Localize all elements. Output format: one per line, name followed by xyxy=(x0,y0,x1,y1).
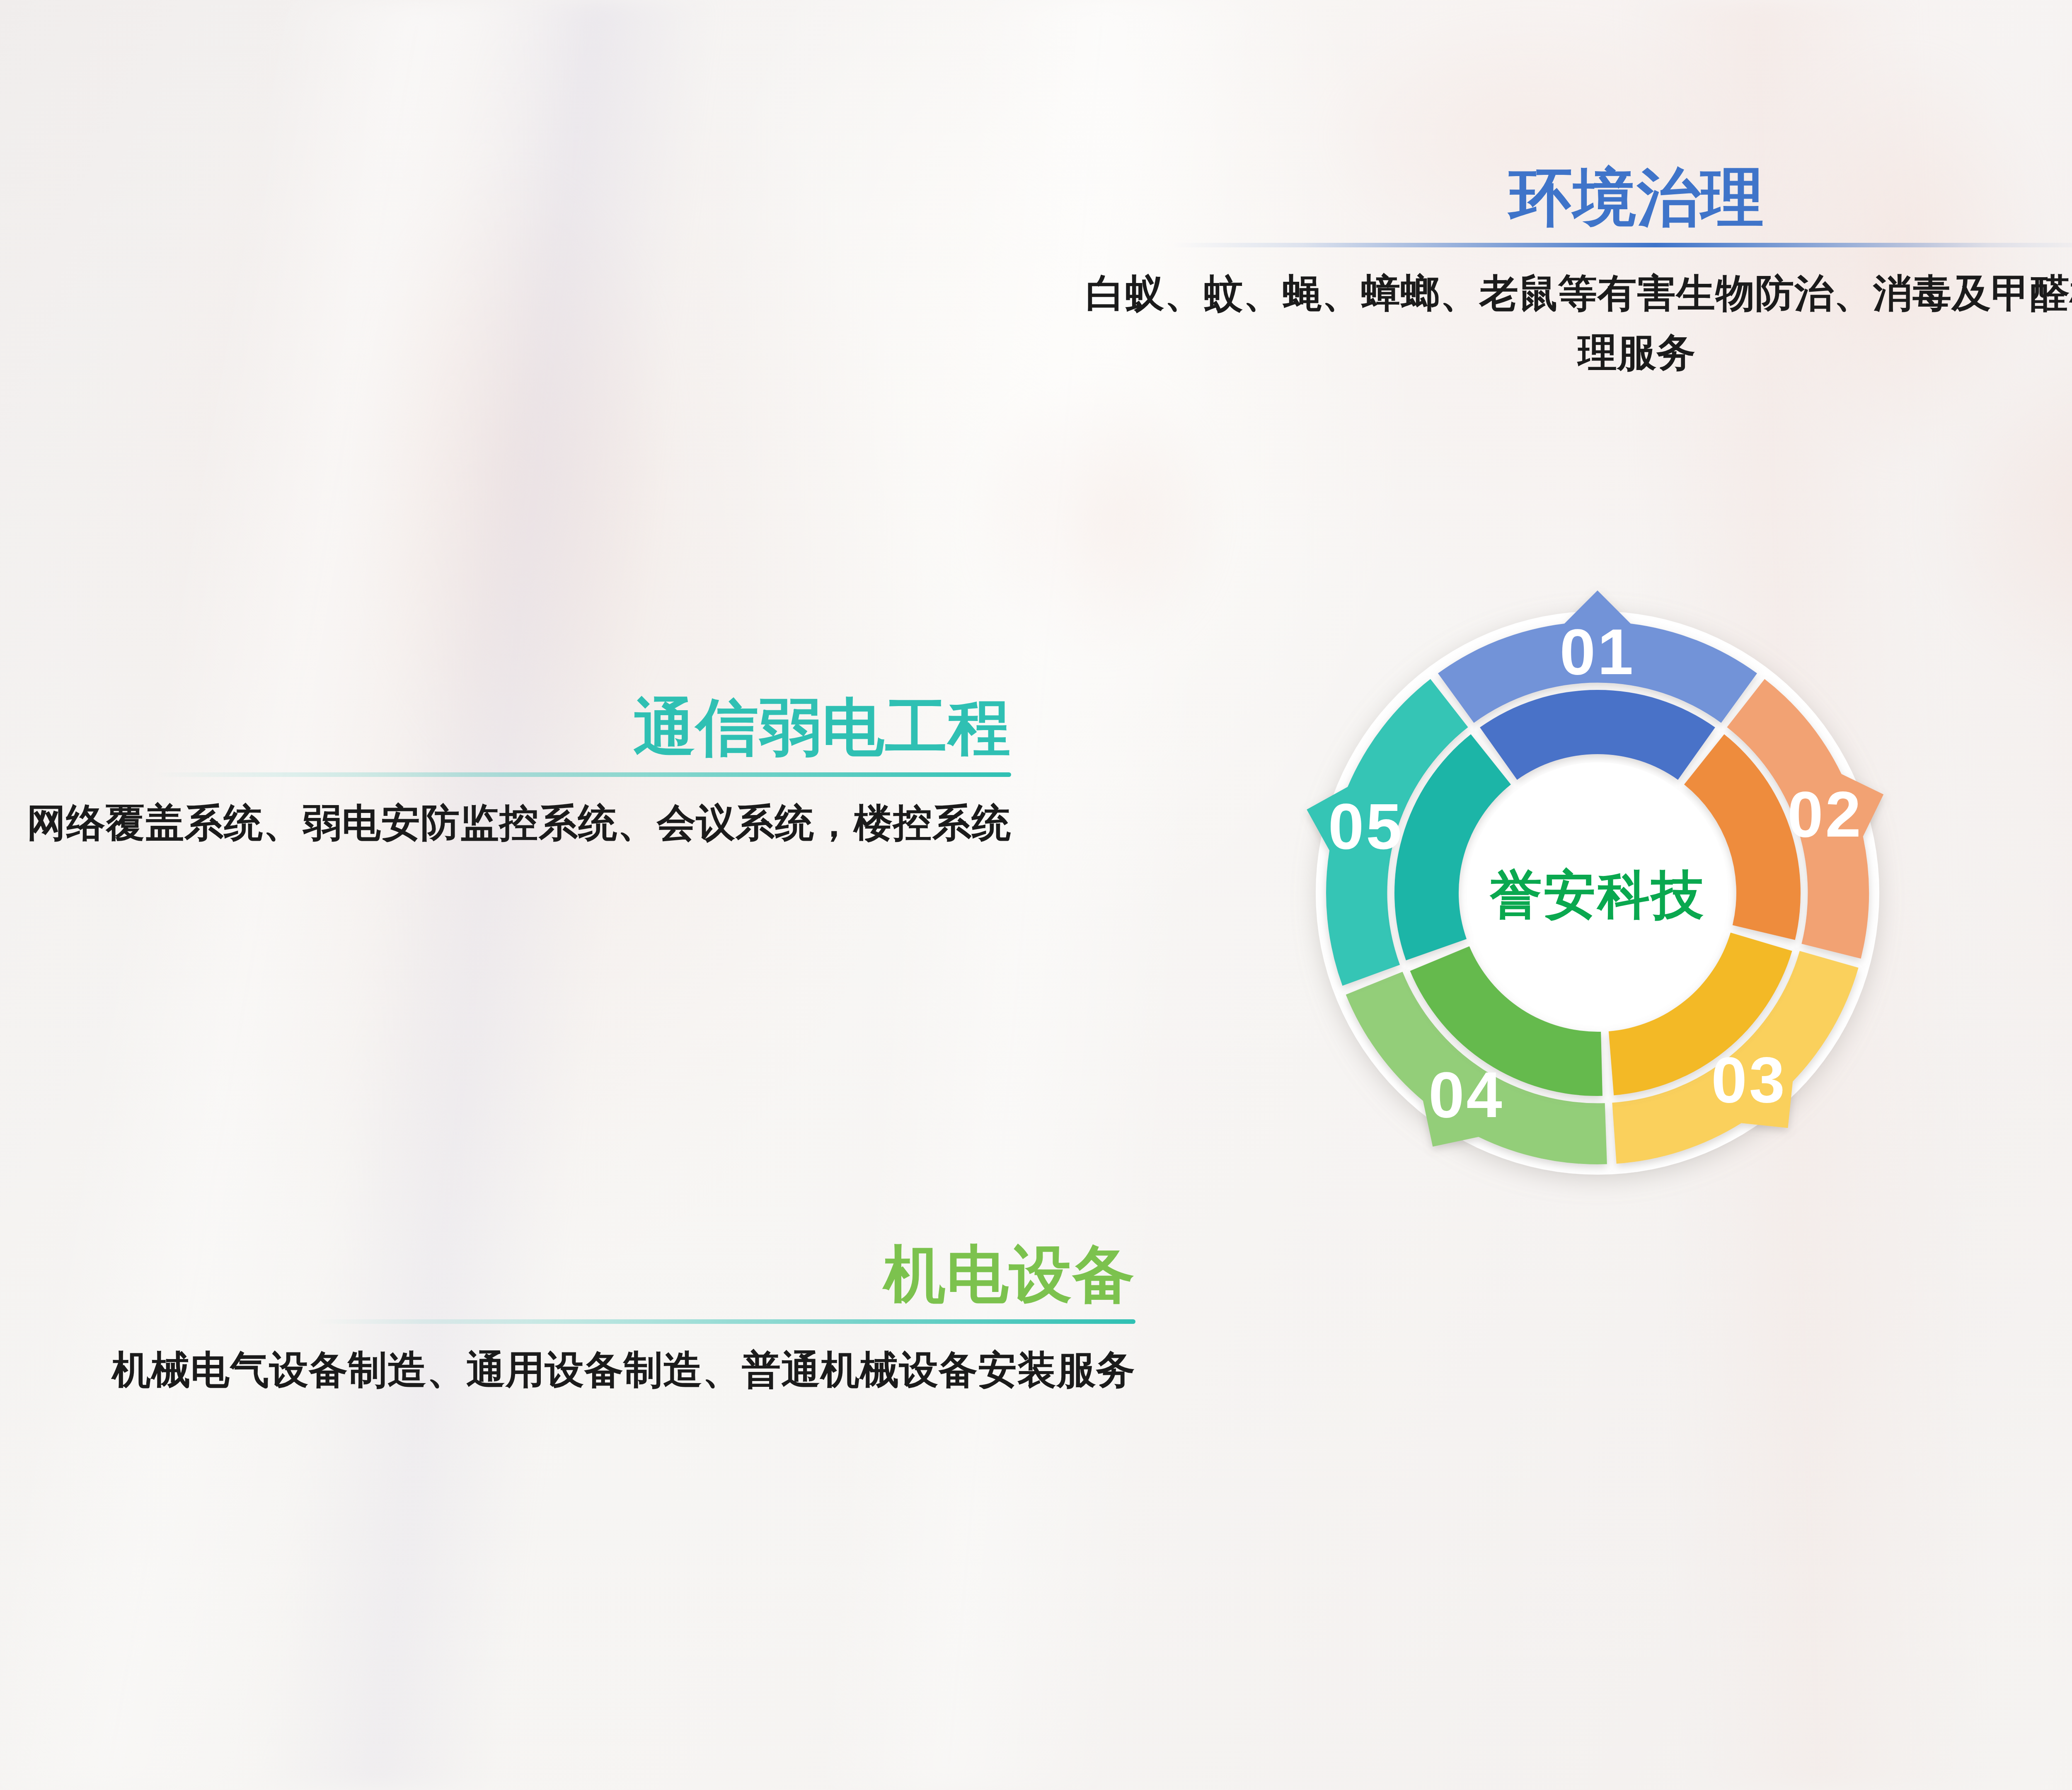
section-electromechanical-equipment: 机电设备 机械电气设备制造、通用设备制造、普通机械设备安装服务 xyxy=(83,1243,1135,1400)
section-divider xyxy=(1173,243,2072,247)
segment-number-03: 03 xyxy=(1711,1044,1787,1116)
segment-number-01: 01 xyxy=(1560,616,1635,688)
segment-number-05: 05 xyxy=(1328,791,1404,862)
section-body-text: 机械电气设备制造、通用设备制造、普通机械设备安装服务 xyxy=(83,1340,1135,1400)
section-environment-governance: 环境治理 白蚁、蚊、蝇、蟑螂、老鼠等有害生物防治、消毒及甲醛检测治理服务 xyxy=(1086,166,2072,382)
business-segments-donut-chart: 0102030405 誉安科技 xyxy=(1256,551,1939,1235)
section-body-text: 网络覆盖系统、弱电安防监控系统、会议系统，楼控系统 xyxy=(0,793,1011,853)
section-title: 机电设备 xyxy=(83,1243,1135,1305)
section-communication-engineering: 通信弱电工程 网络覆盖系统、弱电安防监控系统、会议系统，楼控系统 xyxy=(0,696,1011,853)
section-divider xyxy=(315,1319,1135,1324)
segment-number-02: 02 xyxy=(1787,779,1863,850)
section-title: 通信弱电工程 xyxy=(0,696,1011,758)
segment-number-04: 04 xyxy=(1428,1059,1504,1131)
section-body-text: 白蚁、蚊、蝇、蟑螂、老鼠等有害生物防治、消毒及甲醛检测治理服务 xyxy=(1086,264,2072,382)
section-divider xyxy=(153,772,1011,777)
donut-center-disc xyxy=(1467,762,1728,1023)
donut-svg: 0102030405 xyxy=(1256,551,1939,1235)
section-title: 环境治理 xyxy=(1086,166,2072,229)
